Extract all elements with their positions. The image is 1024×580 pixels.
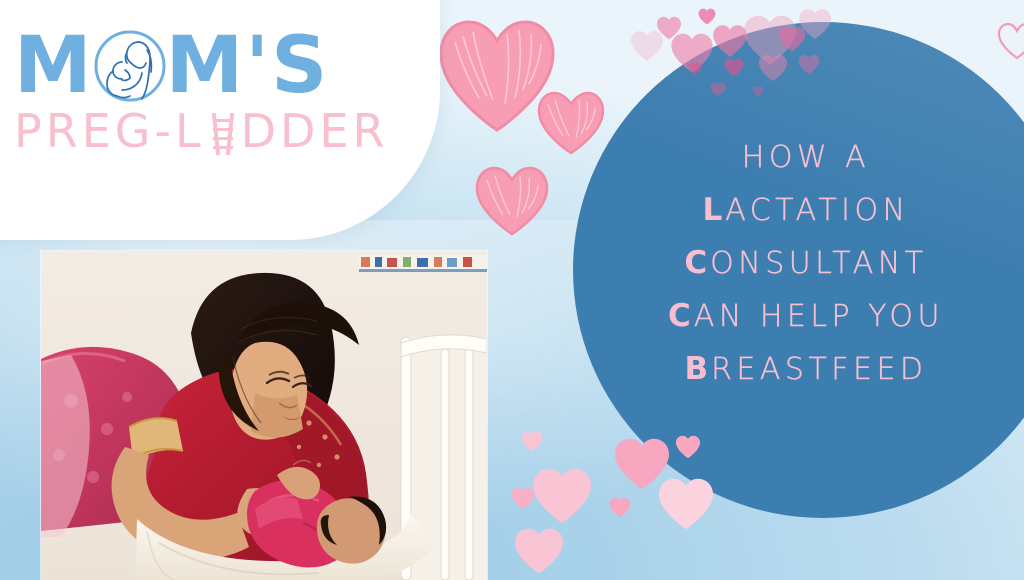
headline-line-1: HOW A <box>596 132 1016 184</box>
headline-line-5: BREASTFEED <box>596 343 1016 396</box>
brand-name-primary: M <box>14 28 434 104</box>
headline-cap-c1: C <box>684 245 710 281</box>
banner-canvas: M <box>0 0 1024 580</box>
brand-name-secondary-part-a: PREG-L <box>14 108 205 154</box>
headline-cap-b: B <box>684 351 711 387</box>
headline-line-4: CAN HELP YOU <box>596 290 1016 343</box>
headline-cap-l: L <box>702 192 725 228</box>
mother-and-baby-icon <box>92 28 168 104</box>
headline-text: HOW A LACTATION CONSULTANT CAN HELP YOU … <box>596 132 1016 396</box>
headline-cap-c2: C <box>668 298 694 334</box>
brand-name-secondary: PREG-L DDER <box>14 108 434 154</box>
brand-name-primary-part-b: M'S <box>166 29 330 103</box>
headline-line-3: CONSULTANT <box>596 237 1016 290</box>
brand-name-primary-part-a: M <box>14 29 94 103</box>
brand-logo: M <box>14 28 434 154</box>
headline-line-2: LACTATION <box>596 184 1016 237</box>
brand-name-secondary-part-b: DDER <box>241 108 389 154</box>
ladder-icon <box>208 113 238 155</box>
breastfeeding-photo <box>41 251 487 580</box>
